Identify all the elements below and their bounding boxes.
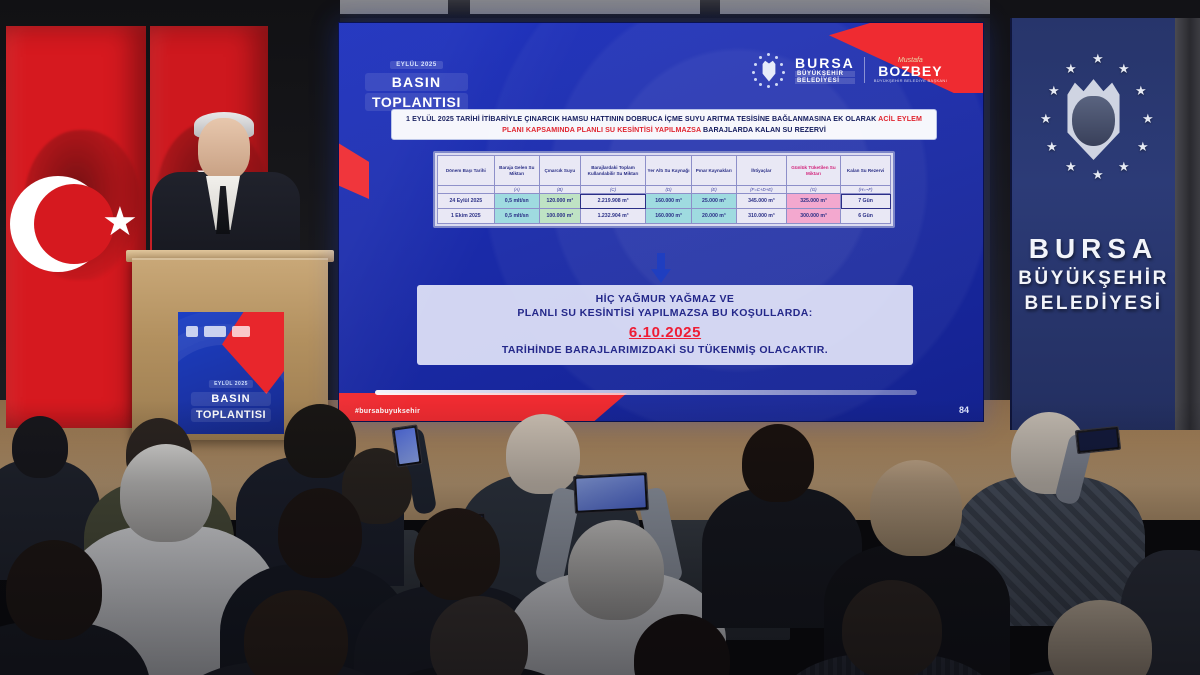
slide-red-accent-left (338, 141, 369, 199)
person-head (6, 540, 102, 640)
person-head (284, 404, 356, 478)
emblem-star-icon: ★ (1118, 62, 1130, 75)
person-head (506, 414, 580, 494)
phone-screen (395, 428, 420, 464)
banner-brand-logo (204, 326, 226, 337)
col-code-6: (F=C+D+E) (736, 186, 786, 194)
col-code-5: (E) (691, 186, 736, 194)
bursa-sign-text: BURSA BÜYÜKŞEHİR BELEDİYESİ (1012, 233, 1175, 315)
message-date: 6.10.2025 (421, 324, 909, 341)
mayor-subtitle: BÜYÜKŞEHİR BELEDİYE BAŞKANI (874, 79, 947, 83)
cell-r0-c4: 160.000 m³ (646, 194, 691, 209)
col-header-6: İhtiyaçlar (736, 156, 786, 186)
col-header-5: Pınar Kaynakları (691, 156, 736, 186)
slide-brand-line3: BELEDİYESİ (795, 78, 855, 84)
audience-area (0, 400, 1200, 675)
bursa-sign-line2: BÜYÜKŞEHİR (1012, 268, 1175, 290)
slide-badge-period: EYLÜL 2025 (390, 61, 443, 69)
slide-logo-group: BURSA BÜYÜKŞEHİR BELEDİYESİ Mustafa BOZB… (752, 53, 947, 87)
water-reserve-table: Dönem Başı Tarihi Baraja Gelen Su Miktar… (437, 155, 891, 224)
mayor-logo: Mustafa BOZBEY BÜYÜKŞEHİR BELEDİYE BAŞKA… (874, 57, 947, 83)
person-head (414, 508, 500, 600)
cell-r1-c5: 20.000 m³ (691, 209, 736, 224)
slide-title-part1: 1 EYLÜL 2025 TARİHİ İTİBARİYLE ÇINARCIK … (406, 115, 878, 123)
person-head (842, 580, 942, 675)
cell-r1-c8: 6 Gün (841, 209, 891, 224)
col-header-8: Kalan Su Rezervi (841, 156, 891, 186)
bursa-emblem-area: ★ ★ ★ ★ ★ ★ ★ ★ ★ ★ ★ ★ (1012, 46, 1175, 226)
bursa-city-emblem-icon (1063, 74, 1125, 160)
cell-r0-c2: 120.000 m³ (539, 194, 580, 209)
emblem-star-icon: ★ (1065, 160, 1077, 173)
cell-r1-c0: 1 Ekim 2025 (438, 209, 495, 224)
person-head (742, 424, 814, 502)
phone-screen (576, 475, 646, 511)
bursa-wall-sign: ★ ★ ★ ★ ★ ★ ★ ★ ★ ★ ★ ★ BURSA BÜYÜKŞEHİR… (1010, 18, 1175, 430)
banner-mayor-logo (232, 326, 250, 337)
podium-banner-period: EYLÜL 2025 (209, 380, 253, 388)
cell-r1-c1: 0,5 mlt/sn (494, 209, 539, 224)
col-header-4: Yer Altı Su Kaynağı (646, 156, 691, 186)
presentation-screen[interactable]: EYLÜL 2025 BASIN TOPLANTISI (338, 22, 984, 422)
message-line2: PLANLI SU KESİNTİSİ YAPILMAZSA BU KOŞULL… (421, 306, 909, 320)
person-head (12, 416, 68, 478)
water-reserve-table-wrap: Dönem Başı Tarihi Baraja Gelen Su Miktar… (433, 151, 895, 228)
message-line3: TARİHİNDE BARAJLARIMIZDAKİ SU TÜKENMİŞ O… (421, 344, 909, 356)
ceiling-panel (470, 0, 700, 14)
wall-edge-column (1175, 18, 1200, 430)
bursa-emblem-icon-slide (752, 53, 786, 87)
phone-camera[interactable] (573, 472, 649, 514)
emblem-shield-icon (761, 59, 777, 82)
cell-r0-c8: 7 Gün (841, 194, 891, 209)
col-header-0: Dönem Başı Tarihi (438, 156, 495, 186)
col-code-3: (C) (580, 186, 646, 194)
phone-screen (1078, 429, 1118, 451)
col-code-4: (D) (646, 186, 691, 194)
ceiling-panel (328, 0, 448, 14)
col-header-3: Barajlardaki Toplam Kullanılabilir Su Mi… (580, 156, 646, 186)
col-code-0 (438, 186, 495, 194)
press-conference-photo: ★ ★ EYLÜL 2025 (0, 0, 1200, 675)
emblem-star-icon: ★ (1092, 168, 1104, 181)
bursa-sign-line3: BELEDİYESİ (1012, 293, 1175, 315)
cell-r0-c5: 25.000 m³ (691, 194, 736, 209)
col-code-1: (A) (494, 186, 539, 194)
slide-brand-text: BURSA BÜYÜKŞEHİR BELEDİYESİ (795, 56, 855, 83)
message-line1: HİÇ YAĞMUR YAĞMAZ VE (421, 292, 909, 306)
emblem-star-icon: ★ (1137, 140, 1149, 153)
col-code-8: (H=~F) (841, 186, 891, 194)
col-header-7: Günlük Tüketilen Su Miktarı (786, 156, 840, 186)
phone-camera[interactable] (1075, 426, 1121, 454)
cell-r0-c1: 0,5 mlt/sn (494, 194, 539, 209)
ceiling-panel (720, 0, 1020, 14)
cell-r0-c0: 24 Eylül 2025 (438, 194, 495, 209)
person-head (278, 488, 362, 578)
slide-white-bar (375, 390, 917, 395)
cell-r1-c6: 310.000 m³ (736, 209, 786, 224)
emblem-star-icon: ★ (1040, 112, 1052, 125)
cell-r1-c3: 1.232.904 m³ (580, 209, 646, 224)
col-header-1: Baraja Gelen Su Miktarı (494, 156, 539, 186)
emblem-star-icon: ★ (1065, 62, 1077, 75)
emblem-star-icon: ★ (1118, 160, 1130, 173)
phone-camera[interactable] (391, 424, 422, 467)
emblem-star-icon: ★ (1142, 112, 1154, 125)
speaker-head (198, 118, 250, 180)
slide-brand-line1: BURSA (795, 56, 855, 70)
slide-title: 1 EYLÜL 2025 TARİHİ İTİBARİYLE ÇINARCIK … (391, 109, 937, 140)
logo-divider (864, 57, 865, 83)
slide-brand-line2: BÜYÜKŞEHİR (795, 71, 855, 77)
emblem-star-icon: ★ (1048, 84, 1060, 97)
emblem-star-icon: ★ (1092, 52, 1104, 65)
emblem-star-icon: ★ (1135, 84, 1147, 97)
slide-canvas: EYLÜL 2025 BASIN TOPLANTISI (339, 23, 983, 421)
person-head (568, 520, 664, 620)
emblem-star-icon: ★ (1046, 140, 1058, 153)
person-head (120, 444, 212, 542)
person-head (870, 460, 962, 556)
down-arrow-wrap (339, 253, 983, 288)
cell-r1-c4: 160.000 m³ (646, 209, 691, 224)
mayor-name: BOZBEY (874, 64, 947, 79)
cell-r1-c7: 300.000 m³ (786, 209, 840, 224)
slide-badge: EYLÜL 2025 BASIN TOPLANTISI (365, 53, 468, 111)
bursa-sign-line1: BURSA (1012, 233, 1175, 265)
table-code-row: (A) (B) (C) (D) (E) (F=C+D+E) (G) (H=~F) (438, 186, 891, 194)
down-arrow-icon (648, 253, 674, 283)
col-header-2: Çınarcık Suyu (539, 156, 580, 186)
cell-r1-c2: 100.000 m³ (539, 209, 580, 224)
table-header-row: Dönem Başı Tarihi Baraja Gelen Su Miktar… (438, 156, 891, 186)
cell-r0-c6: 345.000 m³ (736, 194, 786, 209)
cell-r0-c3: 2.219.908 m³ (580, 194, 646, 209)
col-code-7: (G) (786, 186, 840, 194)
banner-logo-row (186, 326, 250, 337)
slide-message-box: HİÇ YAĞMUR YAĞMAZ VE PLANLI SU KESİNTİSİ… (417, 285, 913, 365)
banner-emblem-icon (186, 326, 198, 337)
slide-badge-line1: BASIN (365, 73, 468, 91)
table-row: 1 Ekim 2025 0,5 mlt/sn 100.000 m³ 1.232.… (438, 209, 891, 224)
table-row: 24 Eylül 2025 0,5 mlt/sn 120.000 m³ 2.21… (438, 194, 891, 209)
col-code-2: (B) (539, 186, 580, 194)
slide-title-part2: BARAJLARDA KALAN SU REZERVİ (701, 126, 826, 134)
cell-r0-c7: 325.000 m³ (786, 194, 840, 209)
